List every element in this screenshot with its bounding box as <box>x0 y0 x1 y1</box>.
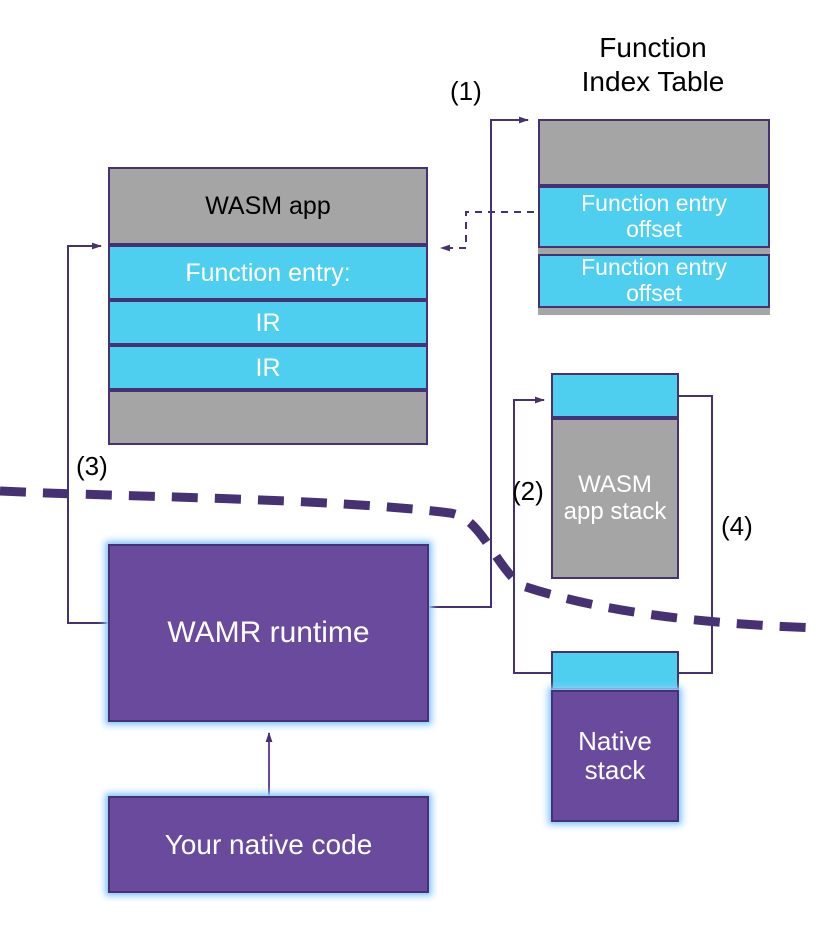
wasm-app-ir-row-2: IR <box>108 345 428 390</box>
wasm-app-stack-label-line-2: app stack <box>564 499 667 526</box>
function-entry-label: Function entry: <box>185 259 350 287</box>
function-index-table-title-line-1: Function <box>599 32 706 63</box>
ir-label-1: IR <box>256 309 281 337</box>
step-label-4: (4) <box>721 511 753 542</box>
wasm-app-block: WASM app Function entry: IR IR <box>108 167 428 445</box>
function-index-table-separator-2 <box>538 308 770 315</box>
fit-entry-1-line-2: offset <box>626 217 682 243</box>
wasm-app-title-label: WASM app <box>205 192 331 220</box>
wasm-app-stack-label-line-1: WASM <box>578 472 652 499</box>
wamr-runtime-label: WAMR runtime <box>167 616 369 650</box>
your-native-code-block: Your native code <box>108 796 429 893</box>
step-label-3: (3) <box>76 451 108 482</box>
native-stack-body: Native stack <box>551 690 679 822</box>
function-index-table-block: Function entry offset Function entry off… <box>538 119 770 315</box>
function-index-table-title: Function Index Table <box>528 27 778 103</box>
function-index-table-header-row <box>538 119 770 186</box>
native-stack-label-line-2: stack <box>585 756 646 785</box>
wasm-app-tail-row <box>108 390 428 445</box>
wasm-app-stack-block: WASM app stack <box>551 373 679 579</box>
your-native-code-label: Your native code <box>165 829 373 860</box>
wasm-app-stack-body: WASM app stack <box>551 418 679 579</box>
wamr-runtime-block: WAMR runtime <box>108 544 429 722</box>
wasm-app-ir-row-1: IR <box>108 300 428 345</box>
function-index-table-entry-1: Function entry offset <box>538 186 770 248</box>
wasm-app-function-entry-row: Function entry: <box>108 245 428 300</box>
ir-label-2: IR <box>256 354 281 382</box>
wasm-app-title: WASM app <box>108 167 428 245</box>
function-index-table-title-line-2: Index Table <box>582 66 725 97</box>
connector-step-1 <box>429 120 528 607</box>
fit-entry-2-line-2: offset <box>626 281 682 307</box>
connector-step-3 <box>68 246 108 623</box>
native-stack-label-line-1: Native <box>578 727 652 756</box>
native-stack-block: Native stack <box>551 651 679 822</box>
step-label-2: (2) <box>512 476 544 507</box>
wasm-app-stack-frame-top <box>551 373 679 418</box>
diagram-canvas: WASM app Function entry: IR IR Function … <box>0 0 819 925</box>
fit-entry-2-line-1: Function entry <box>581 255 727 281</box>
fit-entry-1-line-1: Function entry <box>581 191 727 217</box>
step-label-1: (1) <box>450 76 482 107</box>
function-index-table-entry-2: Function entry offset <box>538 254 770 308</box>
native-stack-frame-top <box>551 651 679 690</box>
